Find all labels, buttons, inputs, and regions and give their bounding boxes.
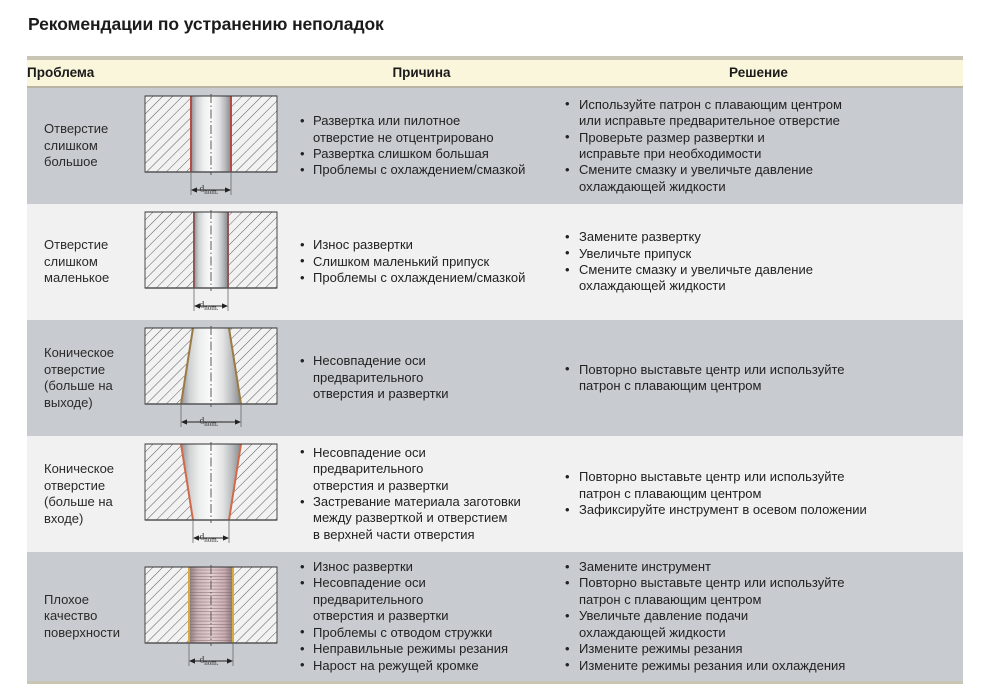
cause-cell: Несовпадение оси предварительного отверс… (289, 436, 554, 552)
hole-cross-section-diagram: dnom. (137, 440, 285, 548)
solution-cell-list: Замените разверткуУвеличьте припускСмени… (564, 229, 957, 295)
solution-cell: Повторно выставьте центр или используйте… (554, 436, 963, 552)
list-item: Несовпадение оси предварительного отверс… (299, 445, 548, 494)
list-item: Застревание материала заготовки между ра… (299, 494, 548, 543)
list-item: Увеличьте припуск (564, 246, 957, 262)
cause-cell: Износ разверткиСлишком маленький припуск… (289, 204, 554, 320)
list-item: Нарост на режущей кромке (299, 658, 548, 674)
problem-cell: Отверстие слишком маленькое (27, 204, 137, 320)
problem-cell: Коническое отверстие (больше на выходе) (27, 320, 137, 436)
cause-cell-list: Развертка или пилотное отверстие не отце… (299, 113, 548, 179)
diagram-cell: dnom. (137, 436, 289, 552)
table-row: Коническое отверстие (больше на входе)dn… (27, 436, 963, 552)
problem-cell: Отверстие слишком большое (27, 87, 137, 204)
column-header-problem: Проблема (27, 60, 289, 87)
svg-text:dnom.: dnom. (200, 533, 219, 545)
list-item: Смените смазку и увеличьте давление охла… (564, 262, 957, 295)
table: Проблема Причина Решение Отверстие слишк… (27, 56, 963, 681)
hole-cross-section-diagram: dnom. (137, 563, 285, 671)
list-item: Используйте патрон с плавающим центром и… (564, 97, 957, 130)
list-item: Неправильные режимы резания (299, 641, 548, 657)
solution-cell: Замените разверткуУвеличьте припускСмени… (554, 204, 963, 320)
table-row: Плохое качество поверхностиdnom.Износ ра… (27, 552, 963, 681)
table-row: Отверстие слишком маленькоеdnom.Износ ра… (27, 204, 963, 320)
list-item: Проверьте размер развертки и исправьте п… (564, 130, 957, 163)
svg-text:dnom.: dnom. (200, 185, 219, 197)
problem-cell: Плохое качество поверхности (27, 552, 137, 681)
table-row: Отверстие слишком большоеdnom.Развертка … (27, 87, 963, 204)
list-item: Несовпадение оси предварительного отверс… (299, 575, 548, 624)
table-row: Коническое отверстие (больше на выходе)d… (27, 320, 963, 436)
solution-cell-list: Повторно выставьте центр или используйте… (564, 469, 957, 518)
diagram-cell: dnom. (137, 87, 289, 204)
list-item: Развертка слишком большая (299, 146, 548, 162)
solution-cell: Замените инструментПовторно выставьте це… (554, 552, 963, 681)
list-item: Зафиксируйте инструмент в осевом положен… (564, 502, 957, 518)
hole-cross-section-diagram: dnom. (137, 92, 285, 200)
cause-cell-list: Износ разверткиНесовпадение оси предвари… (299, 559, 548, 674)
solution-cell-list: Замените инструментПовторно выставьте це… (564, 559, 957, 674)
list-item: Проблемы с охлаждением/смазкой (299, 270, 548, 286)
cause-cell-list: Несовпадение оси предварительного отверс… (299, 353, 548, 402)
solution-cell: Повторно выставьте центр или используйте… (554, 320, 963, 436)
diagram-cell: dnom. (137, 320, 289, 436)
list-item: Повторно выставьте центр или используйте… (564, 469, 957, 502)
problem-cell: Коническое отверстие (больше на входе) (27, 436, 137, 552)
list-item: Износ развертки (299, 559, 548, 575)
list-item: Увеличьте давление подачи охлаждающей жи… (564, 608, 957, 641)
svg-text:dnom.: dnom. (200, 417, 219, 429)
column-header-cause: Причина (289, 60, 554, 87)
troubleshooting-table: Проблема Причина Решение Отверстие слишк… (27, 56, 963, 681)
cause-cell-list: Несовпадение оси предварительного отверс… (299, 445, 548, 544)
bottom-rule (27, 681, 963, 684)
list-item: Проблемы с охлаждением/смазкой (299, 162, 548, 178)
hole-cross-section-diagram: dnom. (137, 208, 285, 316)
list-item: Износ развертки (299, 237, 548, 253)
list-item: Измените режимы резания (564, 641, 957, 657)
list-item: Замените развертку (564, 229, 957, 245)
diagram-cell: dnom. (137, 204, 289, 320)
list-item: Повторно выставьте центр или используйте… (564, 362, 957, 395)
list-item: Замените инструмент (564, 559, 957, 575)
cause-cell: Несовпадение оси предварительного отверс… (289, 320, 554, 436)
table-body: Отверстие слишком большоеdnom.Развертка … (27, 87, 963, 681)
list-item: Развертка или пилотное отверстие не отце… (299, 113, 548, 146)
cause-cell: Развертка или пилотное отверстие не отце… (289, 87, 554, 204)
svg-text:dnom.: dnom. (200, 655, 219, 667)
header-row: Проблема Причина Решение (27, 60, 963, 87)
cause-cell-list: Износ разверткиСлишком маленький припуск… (299, 237, 548, 286)
cause-cell: Износ разверткиНесовпадение оси предвари… (289, 552, 554, 681)
hole-cross-section-diagram: dnom. (137, 324, 285, 432)
list-item: Измените режимы резания или охлаждения (564, 658, 957, 674)
column-header-solution: Решение (554, 60, 963, 87)
solution-cell-list: Используйте патрон с плавающим центром и… (564, 97, 957, 196)
diagram-cell: dnom. (137, 552, 289, 681)
solution-cell: Используйте патрон с плавающим центром и… (554, 87, 963, 204)
list-item: Повторно выставьте центр или используйте… (564, 575, 957, 608)
svg-text:dnom.: dnom. (200, 301, 219, 313)
list-item: Несовпадение оси предварительного отверс… (299, 353, 548, 402)
solution-cell-list: Повторно выставьте центр или используйте… (564, 362, 957, 395)
list-item: Проблемы с отводом стружки (299, 625, 548, 641)
page-root: Рекомендации по устранению неполадок Про… (0, 0, 990, 697)
list-item: Слишком маленький припуск (299, 254, 548, 270)
list-item: Смените смазку и увеличьте давление охла… (564, 162, 957, 195)
page-title: Рекомендации по устранению неполадок (28, 14, 384, 35)
table-header: Проблема Причина Решение (27, 56, 963, 87)
